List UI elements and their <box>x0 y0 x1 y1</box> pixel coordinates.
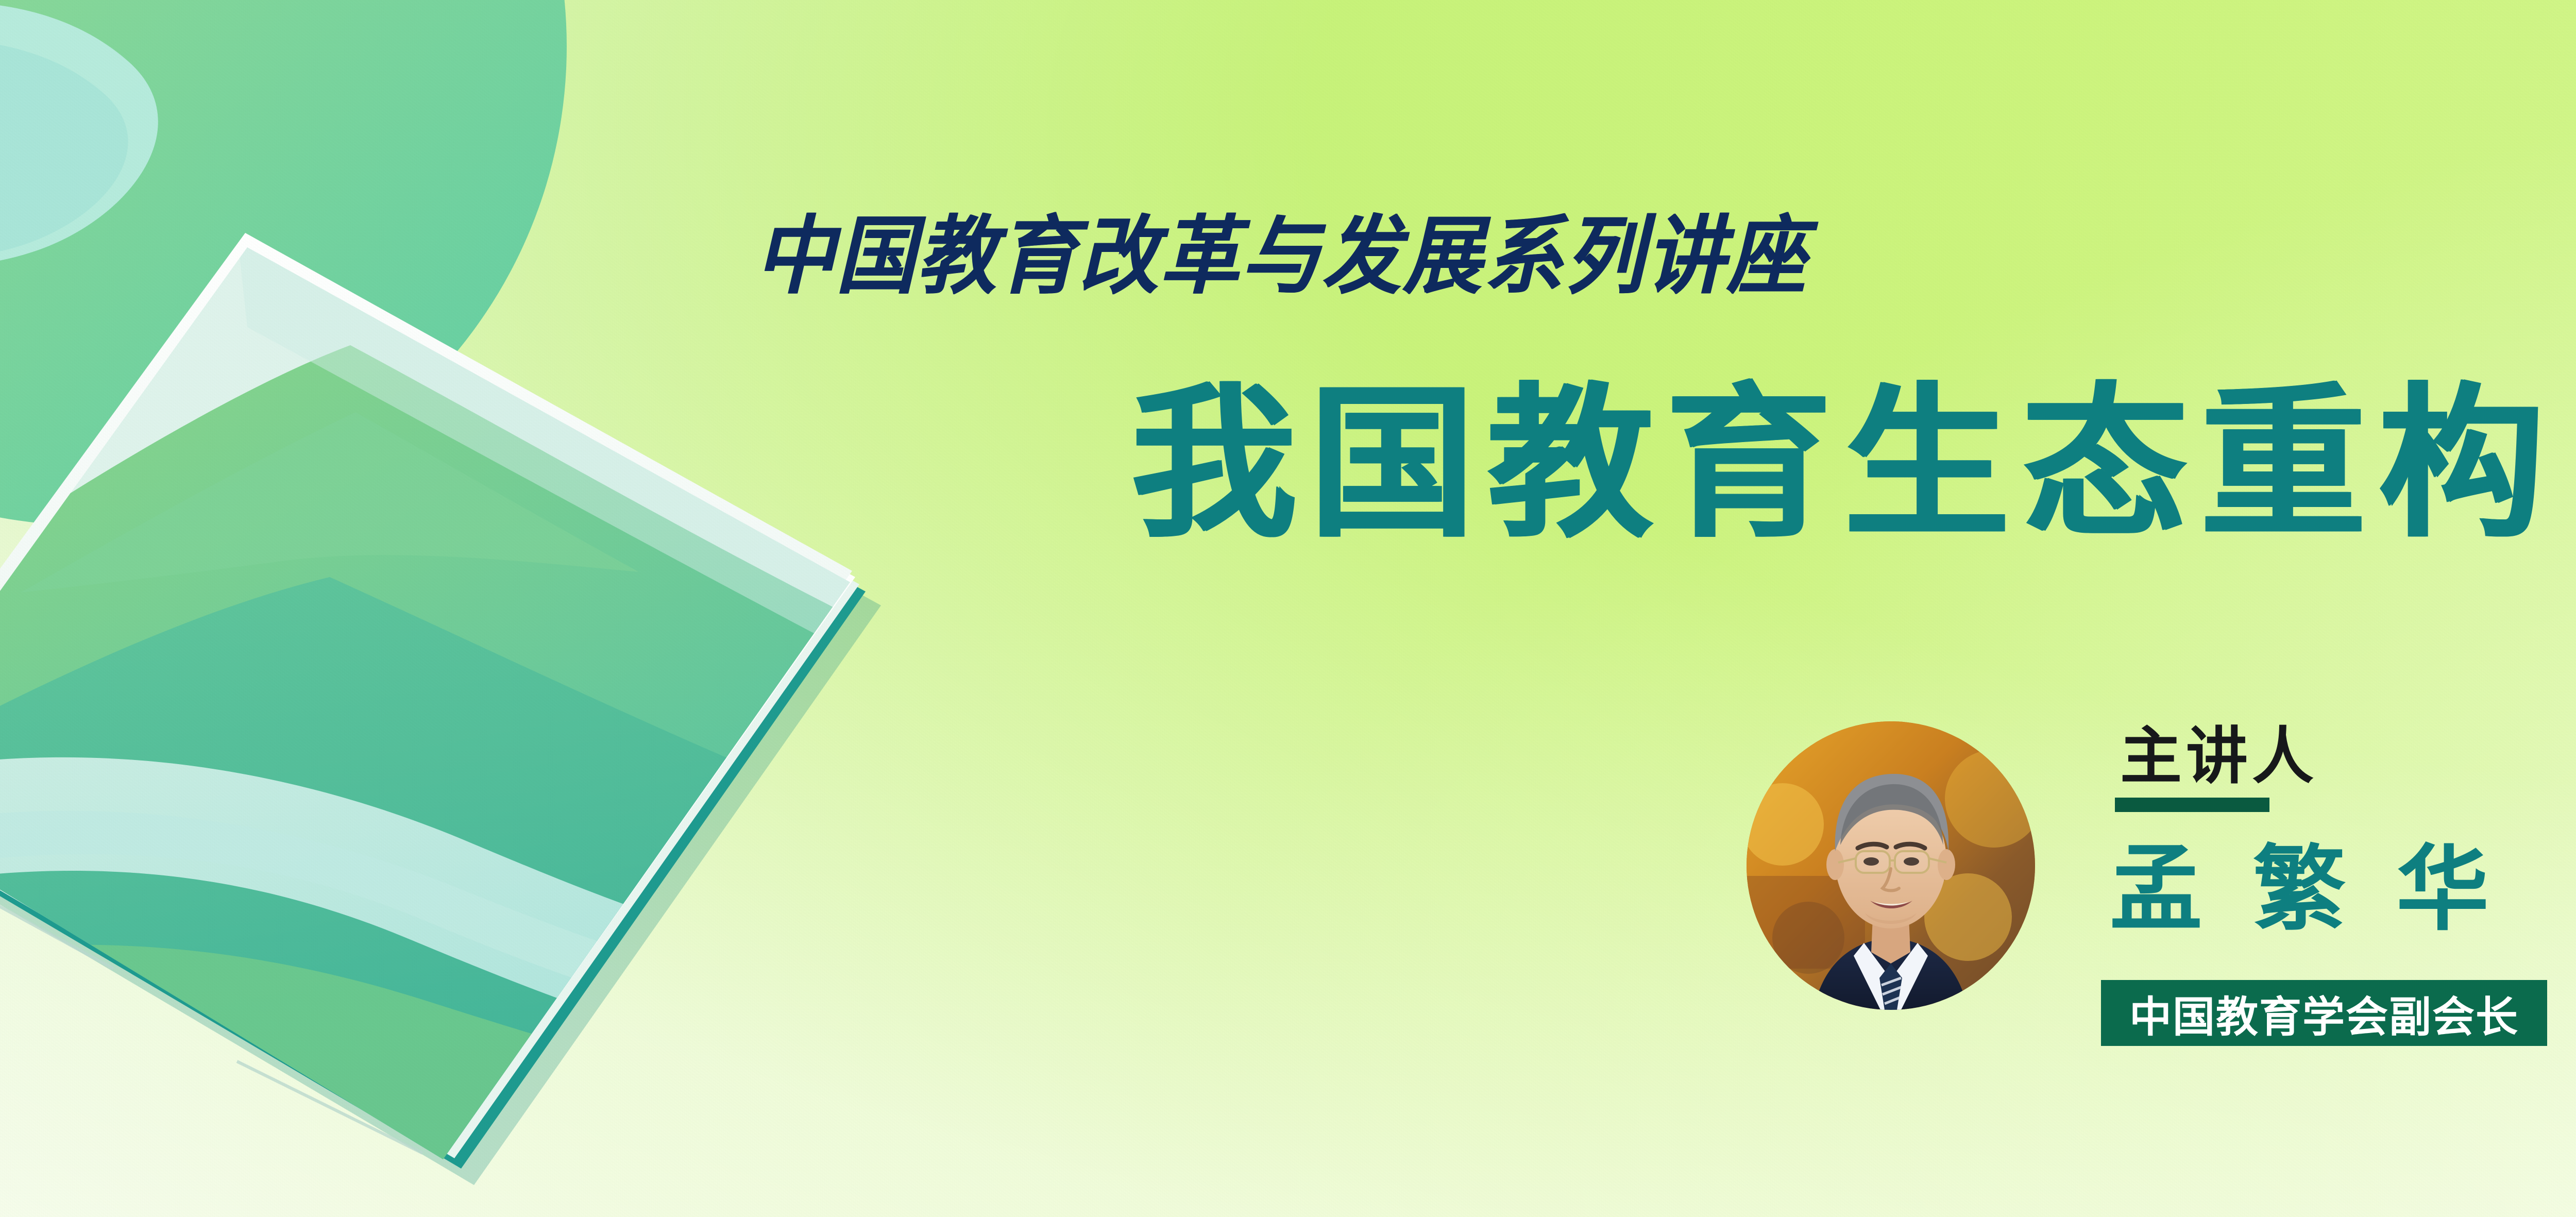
series-subtitle: 中国教育改革与发展系列讲座 <box>755 214 1807 299</box>
speaker-name: 孟 繁 华 <box>2110 843 2501 936</box>
speaker-label: 主讲人 <box>2120 725 2318 787</box>
speaker-credential-badge: 中国教育学会副会长 <box>2101 980 2547 1046</box>
open-book-illustration <box>0 0 1092 1217</box>
speaker-label-underline <box>2115 798 2269 812</box>
lecture-poster-banner: 中国教育改革与发展系列讲座 我国教育生态重构 <box>0 0 2576 1217</box>
avatar <box>1747 721 2035 1010</box>
page-title: 我国教育生态重构 <box>1131 381 2557 546</box>
